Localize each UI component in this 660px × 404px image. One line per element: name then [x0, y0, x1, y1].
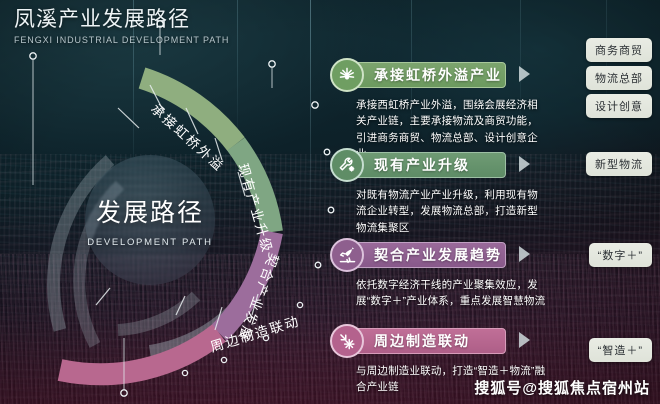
card-accept-hongqiao-spillover[interactable]: 承接虹桥外溢产业 承接西虹桥产业外溢，围绕会展经济相关产业链，主要承接物流及商贸…	[330, 58, 530, 162]
tag-digital-plus[interactable]: “数字＋”	[589, 243, 652, 267]
card-description: 对既有物流产业产业升级，利用现有物流企业转型，发展物流总部，打造新型物流集聚区	[356, 187, 548, 236]
page-title: 凤溪产业发展路径	[14, 8, 229, 32]
page-subtitle: FENGXI INDUSTRIAL DEVELOPMENT PATH	[14, 35, 229, 45]
center-hub: 发展路径 DEVELOPMENT PATH	[85, 155, 215, 285]
card-header: 承接虹桥外溢产业	[330, 58, 530, 92]
card-header: 周边制造联动	[330, 324, 530, 358]
infographic-canvas: 凤溪产业发展路径 FENGXI INDUSTRIAL DEVELOPMENT P…	[0, 0, 660, 404]
card-title: 契合产业发展趋势	[374, 245, 502, 265]
card-title: 周边制造联动	[374, 331, 470, 351]
card-title-pill[interactable]: 承接虹桥外溢产业	[347, 62, 506, 88]
play-arrow-icon[interactable]	[519, 156, 530, 172]
rocket-trend-icon	[330, 238, 364, 272]
watermark: 搜狐号@搜狐焦点宿州站	[474, 377, 650, 398]
card-industry-trend-alignment[interactable]: 契合产业发展趋势 依托数字经济干线的产业聚集效应，发展“数字＋”产业体系，重点发…	[330, 238, 530, 310]
card-header: 现有产业升级	[330, 148, 530, 182]
header: 凤溪产业发展路径 FENGXI INDUSTRIAL DEVELOPMENT P…	[14, 8, 229, 45]
tag-logistics-headquarters[interactable]: 物流总部	[586, 66, 652, 90]
card-title: 承接虹桥外溢产业	[374, 65, 502, 85]
burst-icon	[330, 58, 364, 92]
arrow-into-gear-icon	[330, 324, 364, 358]
center-title-en: DEVELOPMENT PATH	[87, 237, 212, 248]
tag-design-creative[interactable]: 设计创意	[586, 94, 652, 118]
card-title: 现有产业升级	[374, 155, 470, 175]
wrench-icon	[330, 148, 364, 182]
play-arrow-icon[interactable]	[519, 66, 530, 82]
card-title-pill[interactable]: 契合产业发展趋势	[347, 242, 506, 268]
card-header: 契合产业发展趋势	[330, 238, 530, 272]
card-title-pill[interactable]: 周边制造联动	[347, 328, 506, 354]
tag-new-logistics[interactable]: 新型物流	[586, 152, 652, 176]
card-description: 依托数字经济干线的产业聚集效应，发展“数字＋”产业体系，重点发展智慧物流	[356, 277, 548, 310]
card-existing-industry-upgrade[interactable]: 现有产业升级 对既有物流产业产业升级，利用现有物流企业转型，发展物流总部，打造新…	[330, 148, 530, 236]
play-arrow-icon[interactable]	[519, 246, 530, 262]
center-title-cn: 发展路径	[96, 193, 204, 229]
card-title-pill[interactable]: 现有产业升级	[347, 152, 506, 178]
tag-smart-manufacturing-plus[interactable]: “智造＋”	[589, 338, 652, 362]
tag-business-trade[interactable]: 商务商贸	[586, 38, 652, 62]
play-arrow-icon[interactable]	[519, 332, 530, 348]
